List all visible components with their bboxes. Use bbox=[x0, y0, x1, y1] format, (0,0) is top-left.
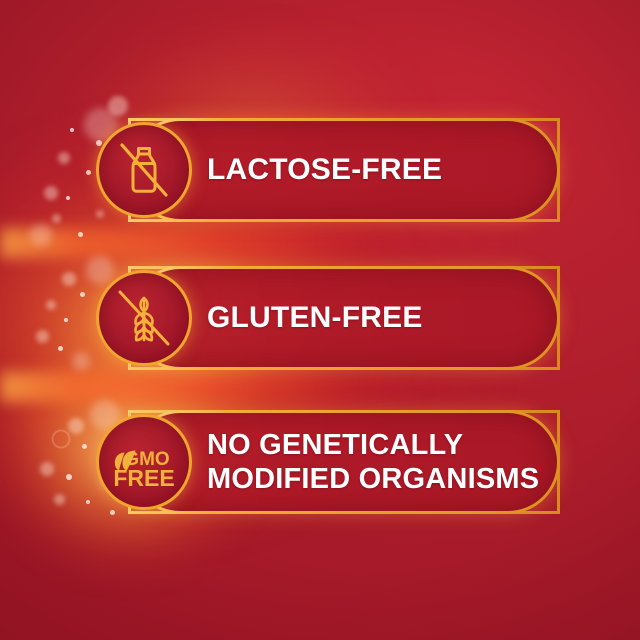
badge-row-gmo-free[interactable]: GMO FREE NO GENETICALLY MODIFIED ORGANIS… bbox=[0, 410, 640, 514]
badge-row-gluten-free[interactable]: GLUTEN-FREE bbox=[0, 266, 640, 370]
gmo-icon-text-bottom: FREE bbox=[113, 465, 174, 491]
no-milk-bottle-icon bbox=[96, 122, 192, 218]
badge-label-gmo-free: NO GENETICALLY MODIFIED ORGANISMS bbox=[207, 410, 539, 514]
badge-label-line: LACTOSE-FREE bbox=[207, 152, 442, 188]
badge-label-line: NO GENETICALLY bbox=[207, 428, 539, 462]
gmo-free-icon: GMO FREE bbox=[96, 414, 192, 510]
badge-label-gluten-free: GLUTEN-FREE bbox=[207, 266, 423, 370]
benefits-graphic: LACTOSE-FREE bbox=[0, 0, 640, 640]
badge-list: LACTOSE-FREE bbox=[0, 0, 640, 640]
badge-row-lactose-free[interactable]: LACTOSE-FREE bbox=[0, 118, 640, 222]
badge-label-lactose-free: LACTOSE-FREE bbox=[207, 118, 442, 222]
badge-label-line: GLUTEN-FREE bbox=[207, 300, 423, 336]
no-wheat-icon bbox=[96, 270, 192, 366]
badge-label-line: MODIFIED ORGANISMS bbox=[207, 462, 539, 496]
